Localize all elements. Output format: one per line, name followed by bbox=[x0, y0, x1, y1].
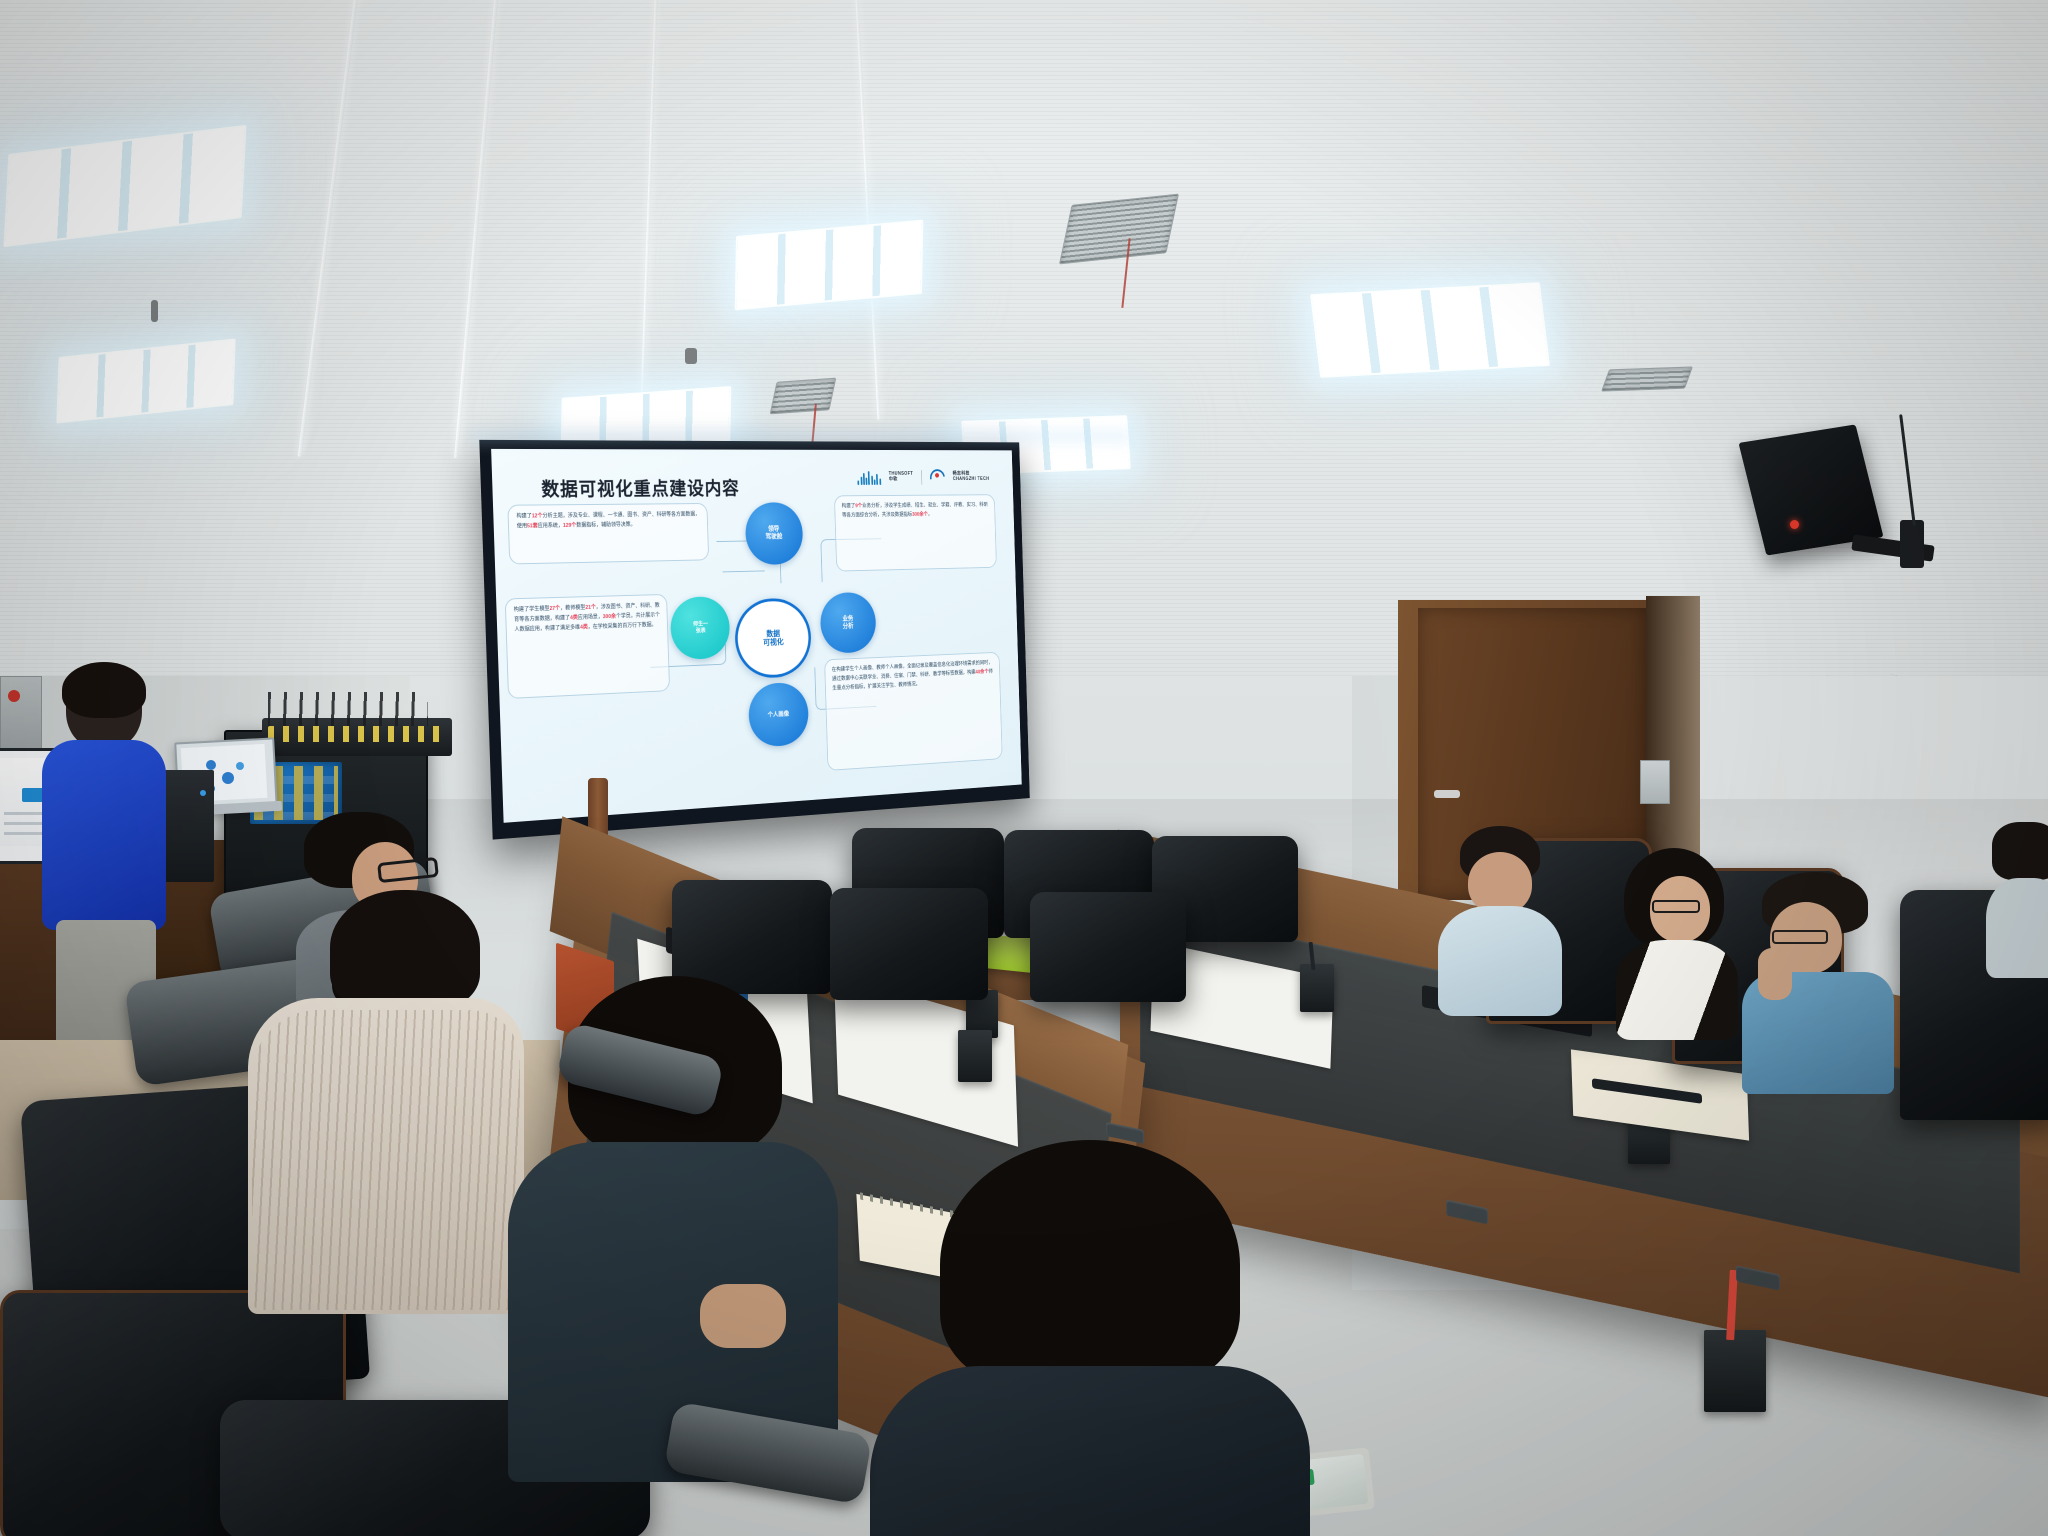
door-handle[interactable] bbox=[1434, 790, 1460, 798]
attendee-head bbox=[1468, 852, 1532, 914]
pen-holder[interactable] bbox=[958, 1030, 992, 1082]
attendee-far-right-partial bbox=[1992, 822, 2048, 972]
screen-glow bbox=[470, 430, 1130, 450]
mixer-cables bbox=[268, 692, 428, 726]
conference-room-photo: 数据可视化重点建设内容 THUNSOFT 中软 畅志科技 CHANGZHI TE… bbox=[0, 0, 2048, 1536]
attendee-blue-polo bbox=[1740, 872, 1898, 1092]
ceiling-sensor bbox=[151, 300, 158, 322]
attendee-torso bbox=[1438, 906, 1562, 1016]
attendee-hair bbox=[940, 1140, 1240, 1390]
glasses-icon bbox=[1772, 930, 1828, 944]
laptop-diagram-dot bbox=[206, 760, 216, 770]
attendee-hand bbox=[700, 1284, 786, 1348]
ceiling-light-panel bbox=[1310, 282, 1550, 378]
node-personal-portrait-label: 个人画像 bbox=[768, 710, 790, 718]
laptop-diagram-dot bbox=[236, 762, 244, 770]
attendee-torso bbox=[1986, 878, 2048, 978]
attendee-woman-white-top bbox=[1614, 848, 1744, 1038]
node-student-teacher-label: 师生一张表 bbox=[693, 622, 708, 635]
attendee-torso bbox=[1616, 940, 1738, 1040]
node-personal-portrait[interactable]: 个人画像 bbox=[747, 681, 808, 748]
presenter-torso bbox=[42, 740, 166, 930]
pen-holder[interactable] bbox=[1704, 1330, 1766, 1412]
speaker-bracket-arm bbox=[1900, 520, 1924, 568]
presentation-slide: 数据可视化重点建设内容 THUNSOFT 中软 畅志科技 CHANGZHI TE… bbox=[491, 449, 1022, 823]
attendee-front-dark bbox=[880, 1140, 1300, 1536]
textblock-business-analysis: 构建了9个业务分析，涉及学生成绩、招生、就业、学籍、评教、实习、科研等各方面综合… bbox=[834, 494, 997, 572]
attendee-light-blue-shirt bbox=[1442, 826, 1562, 1006]
air-vent bbox=[770, 378, 837, 415]
node-business-analysis-label: 业务分析 bbox=[842, 616, 853, 630]
ceiling bbox=[0, 0, 2048, 676]
mixer-knobs[interactable] bbox=[268, 726, 446, 742]
attendee-hair bbox=[1992, 822, 2048, 880]
glasses-icon bbox=[1652, 900, 1700, 913]
panel-indicator bbox=[8, 690, 20, 702]
mindmap-diagram: 数据可视化 领导驾驶舱 业务分析 个人画像 师生一张表 构建了12个分析主 bbox=[491, 449, 1022, 823]
chair-far[interactable] bbox=[1030, 892, 1186, 1002]
air-vent bbox=[1601, 366, 1693, 391]
node-leader-cockpit-label: 领导驾驶舱 bbox=[765, 526, 782, 541]
attendee-hair bbox=[330, 890, 480, 1010]
presenter-hair bbox=[62, 662, 146, 718]
ceiling-sensor bbox=[685, 348, 697, 364]
node-center-label: 数据可视化 bbox=[763, 629, 784, 647]
chair-far[interactable] bbox=[830, 888, 988, 1000]
textblock-personal-portrait: 在构建学生个人画像、教师个人画像，全面记录及覆盖信息化治理环境需求的同时，通过数… bbox=[824, 652, 1002, 771]
pc-led bbox=[200, 790, 206, 796]
laptop-diagram-dot bbox=[222, 772, 234, 784]
shirt-stripes bbox=[252, 1010, 520, 1310]
textblock-student-teacher: 构建了学生模型27个，教师模型21个，涉及图书、资产、科研、教育等各方面数据，构… bbox=[505, 594, 671, 699]
attendee-striped-shirt bbox=[238, 890, 528, 1310]
textblock-leader-cockpit: 构建了12个分析主题，涉及专业、课程、一卡通、图书、资产、科研等各方面数据，使用… bbox=[508, 503, 710, 564]
projection-screen: 数据可视化重点建设内容 THUNSOFT 中软 畅志科技 CHANGZHI TE… bbox=[479, 440, 1029, 840]
wall-control-panel[interactable] bbox=[1640, 760, 1670, 804]
pen-holder[interactable] bbox=[1300, 964, 1334, 1012]
node-center-data-visualization[interactable]: 数据可视化 bbox=[734, 597, 811, 680]
speaker-led bbox=[1790, 520, 1799, 529]
attendee-hand bbox=[1758, 948, 1792, 1000]
node-business-analysis[interactable]: 业务分析 bbox=[819, 592, 876, 655]
ceiling-texture bbox=[0, 0, 2048, 676]
attendee-torso bbox=[870, 1366, 1310, 1536]
